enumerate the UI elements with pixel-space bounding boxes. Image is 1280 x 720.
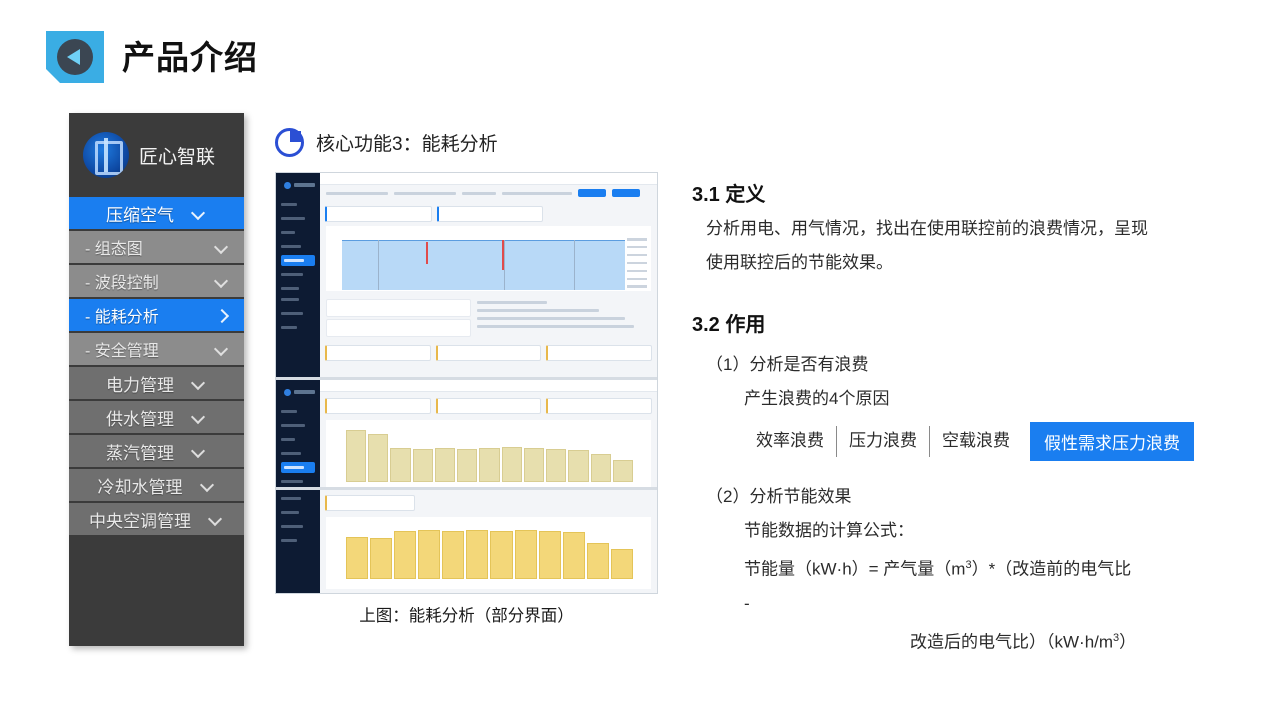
formula-line-1-a: 节能量（kW·h）= 产气量（m: [744, 560, 965, 579]
mock-nav-row[interactable]: [281, 283, 315, 291]
waste-reason-list: 效率浪费 压力浪费 空载浪费 假性需求压力浪费: [692, 422, 1252, 461]
pane-energy-bars-gold: [276, 487, 657, 593]
slide-header: 产品介绍: [46, 31, 258, 83]
mock-table-block: [320, 297, 657, 339]
role-item-1: （1）分析是否有浪费 产生浪费的4个原因: [692, 348, 1252, 416]
mock-kpi-card: [436, 398, 542, 414]
section-title: 核心功能3：能耗分析: [275, 128, 498, 157]
chevron-down-icon: [201, 479, 214, 492]
mock-nav-row[interactable]: [281, 227, 315, 238]
mock-nav-row[interactable]: [281, 434, 315, 445]
pie-chart-icon: [275, 128, 304, 157]
mock-nav-row[interactable]: [281, 199, 315, 210]
mock-nav-row[interactable]: [281, 241, 315, 252]
definition-line-2: 使用联控后的节能效果。: [692, 246, 1252, 280]
product-nav-panel: 匠心智联 压缩空气 - 组态图 - 波段控制 - 能耗分析: [69, 113, 244, 646]
nav-header: 匠心智联: [69, 113, 244, 197]
nav-item-label: - 能耗分析: [85, 303, 159, 327]
mock-nav-row[interactable]: [281, 322, 315, 333]
mock-nav-row-active[interactable]: [281, 462, 315, 473]
mock-sidebar: [276, 173, 320, 291]
mock-nav-row[interactable]: [281, 406, 315, 417]
role-item-2-label: （2）分析节能效果: [692, 480, 1252, 514]
nav-logo-label: 匠心智联: [139, 142, 215, 169]
mock-topbar: [320, 380, 657, 392]
mock-topbar: [320, 173, 657, 185]
company-circle-logo: [83, 132, 129, 178]
chevron-down-icon: [215, 343, 228, 356]
nav-item-safety-management[interactable]: - 安全管理: [69, 333, 244, 367]
role-item-1-label: （1）分析是否有浪费: [692, 348, 1252, 382]
nav-item-energy-analysis[interactable]: - 能耗分析: [69, 299, 244, 333]
mock-nav-row[interactable]: [281, 294, 315, 305]
nav-item-water-supply-management[interactable]: 供水管理: [69, 401, 244, 435]
mock-nav-row[interactable]: [281, 521, 315, 532]
mock-nav-row[interactable]: [281, 448, 315, 459]
chevron-down-icon: [192, 411, 205, 424]
mock-kpi-card: [325, 206, 432, 222]
mock-kpi-row: [320, 398, 657, 414]
formula-line-3: 改造后的电气比）（kW·h/m3）: [692, 621, 1252, 660]
mock-caption: [320, 414, 657, 417]
definition-line-1: 分析用电、用气情况，找出在使用联控前的浪费情况，呈现: [692, 212, 1252, 246]
waste-reason-pressure[interactable]: 压力浪费: [837, 422, 929, 461]
mock-content: [320, 380, 657, 487]
mock-bar-chart: [326, 420, 651, 487]
nav-item-power-management[interactable]: 电力管理: [69, 367, 244, 401]
definition-heading-row: 3.1 定义: [692, 178, 1252, 207]
role-item-2: （2）分析节能效果 节能数据的计算公式： 节能量（kW·h）= 产气量（m3）*…: [692, 480, 1252, 659]
nav-item-steam-management[interactable]: 蒸汽管理: [69, 435, 244, 469]
nav-item-label: 蒸汽管理: [106, 439, 174, 464]
formula-line-1: 节能量（kW·h）= 产气量（m3）*（改造前的电气比: [692, 548, 1252, 587]
formula-line-1-b: ）*（改造前的电气比: [972, 560, 1132, 579]
mock-nav-row[interactable]: [281, 507, 315, 518]
role-heading: 3.2 作用: [692, 308, 1252, 337]
formula-line-3-a: 改造后的电气比）（kW·h/m: [910, 632, 1113, 651]
mock-content: [320, 291, 657, 377]
mock-logo-bar: [294, 390, 315, 394]
nav-item-central-ac-management[interactable]: 中央空调管理: [69, 503, 244, 537]
pane-energy-bars-tan: [276, 377, 657, 487]
nav-item-label: 中央空调管理: [89, 507, 191, 532]
chevron-down-icon: [215, 241, 228, 254]
mock-kpi-row: [320, 495, 657, 511]
mock-kpi-card: [546, 398, 652, 414]
mock-content: [320, 490, 657, 593]
chevron-down-icon: [192, 207, 205, 220]
mock-area-chart: [326, 226, 651, 291]
mock-nav-row[interactable]: [281, 535, 315, 546]
mock-kpi-row: [320, 203, 657, 222]
nav-item-label: - 安全管理: [85, 337, 159, 361]
chevron-down-icon: [192, 377, 205, 390]
mock-kpi-card: [436, 345, 542, 361]
mock-nav-row[interactable]: [281, 493, 315, 504]
chevron-down-icon: [209, 513, 222, 526]
nav-item-label: - 波段控制: [85, 269, 159, 293]
section-title-label: 核心功能3：能耗分析: [316, 129, 498, 156]
waste-reason-efficiency[interactable]: 效率浪费: [744, 422, 836, 461]
mock-kpi-card: [546, 345, 652, 361]
definition-heading: 3.1 定义: [692, 178, 1252, 207]
formula-line-2: -: [692, 587, 1252, 621]
mock-logo: [281, 177, 315, 193]
mock-kpi-card: [437, 206, 544, 222]
role-item-1-sub: 产生浪费的4个原因: [692, 382, 1252, 416]
play-triangle-left-icon: [57, 39, 93, 75]
role-heading-row: 3.2 作用: [692, 308, 1252, 337]
mock-logo: [281, 384, 315, 400]
formula-line-3-b: ）: [1119, 632, 1136, 651]
mock-reset-button[interactable]: [612, 189, 640, 197]
mock-nav-row[interactable]: [281, 420, 315, 431]
mock-bar-chart: [326, 517, 651, 589]
chevron-down-icon: [192, 445, 205, 458]
pane-energy-table: [276, 291, 657, 377]
mock-nav-row[interactable]: [281, 308, 315, 319]
nav-item-cooling-water-management[interactable]: 冷却水管理: [69, 469, 244, 503]
slide-root: 产品介绍 匠心智联 压缩空气 - 组态图 - 波段控制: [0, 0, 1280, 720]
nav-item-label: 电力管理: [106, 371, 174, 396]
header-badge: [46, 31, 104, 83]
nav-item-label: 供水管理: [106, 405, 174, 430]
nav-item-band-control[interactable]: - 波段控制: [69, 265, 244, 299]
mock-content: [320, 173, 657, 291]
definition-body: 分析用电、用气情况，找出在使用联控前的浪费情况，呈现 使用联控后的节能效果。: [692, 212, 1252, 280]
role-item-2-sub: 节能数据的计算公式：: [692, 514, 1252, 548]
mock-filter-row: [320, 185, 657, 201]
nav-item-label: 压缩空气: [106, 201, 174, 226]
mock-logo-dot: [284, 182, 291, 189]
mock-nav-row-active[interactable]: [281, 255, 315, 266]
mock-kpi-card: [325, 495, 415, 511]
waste-reason-false-demand-highlight[interactable]: 假性需求压力浪费: [1030, 422, 1194, 461]
mock-nav-row[interactable]: [281, 269, 315, 280]
embedded-app-screenshot: [275, 172, 658, 594]
waste-reason-idle[interactable]: 空载浪费: [930, 422, 1022, 461]
mock-logo-dot: [284, 389, 291, 396]
mock-query-button[interactable]: [578, 189, 606, 197]
mock-sidebar: [276, 380, 320, 487]
mock-kpi-card: [325, 398, 431, 414]
nav-item-label: - 组态图: [85, 235, 143, 259]
mock-sidebar: [276, 490, 320, 593]
mock-nav-row[interactable]: [281, 213, 315, 224]
mock-kpi-card: [325, 345, 431, 361]
mock-kpi-row: [320, 345, 657, 361]
nav-item-label: 冷却水管理: [98, 473, 183, 498]
mock-caption: [320, 511, 657, 514]
mock-nav-row[interactable]: [281, 476, 315, 487]
page-title: 产品介绍: [122, 41, 258, 74]
mock-logo-bar: [294, 183, 315, 187]
nav-item-compressed-air[interactable]: 压缩空气: [69, 197, 244, 231]
screenshot-caption: 上图：能耗分析（部分界面）: [275, 602, 658, 626]
mock-caption: [320, 361, 657, 367]
mock-tag-row: [320, 592, 657, 593]
mock-sidebar: [276, 291, 320, 377]
chevron-right-icon: [215, 309, 228, 322]
pane-energy-overview: [276, 173, 657, 291]
chevron-down-icon: [215, 275, 228, 288]
nav-item-configuration-diagram[interactable]: - 组态图: [69, 231, 244, 265]
